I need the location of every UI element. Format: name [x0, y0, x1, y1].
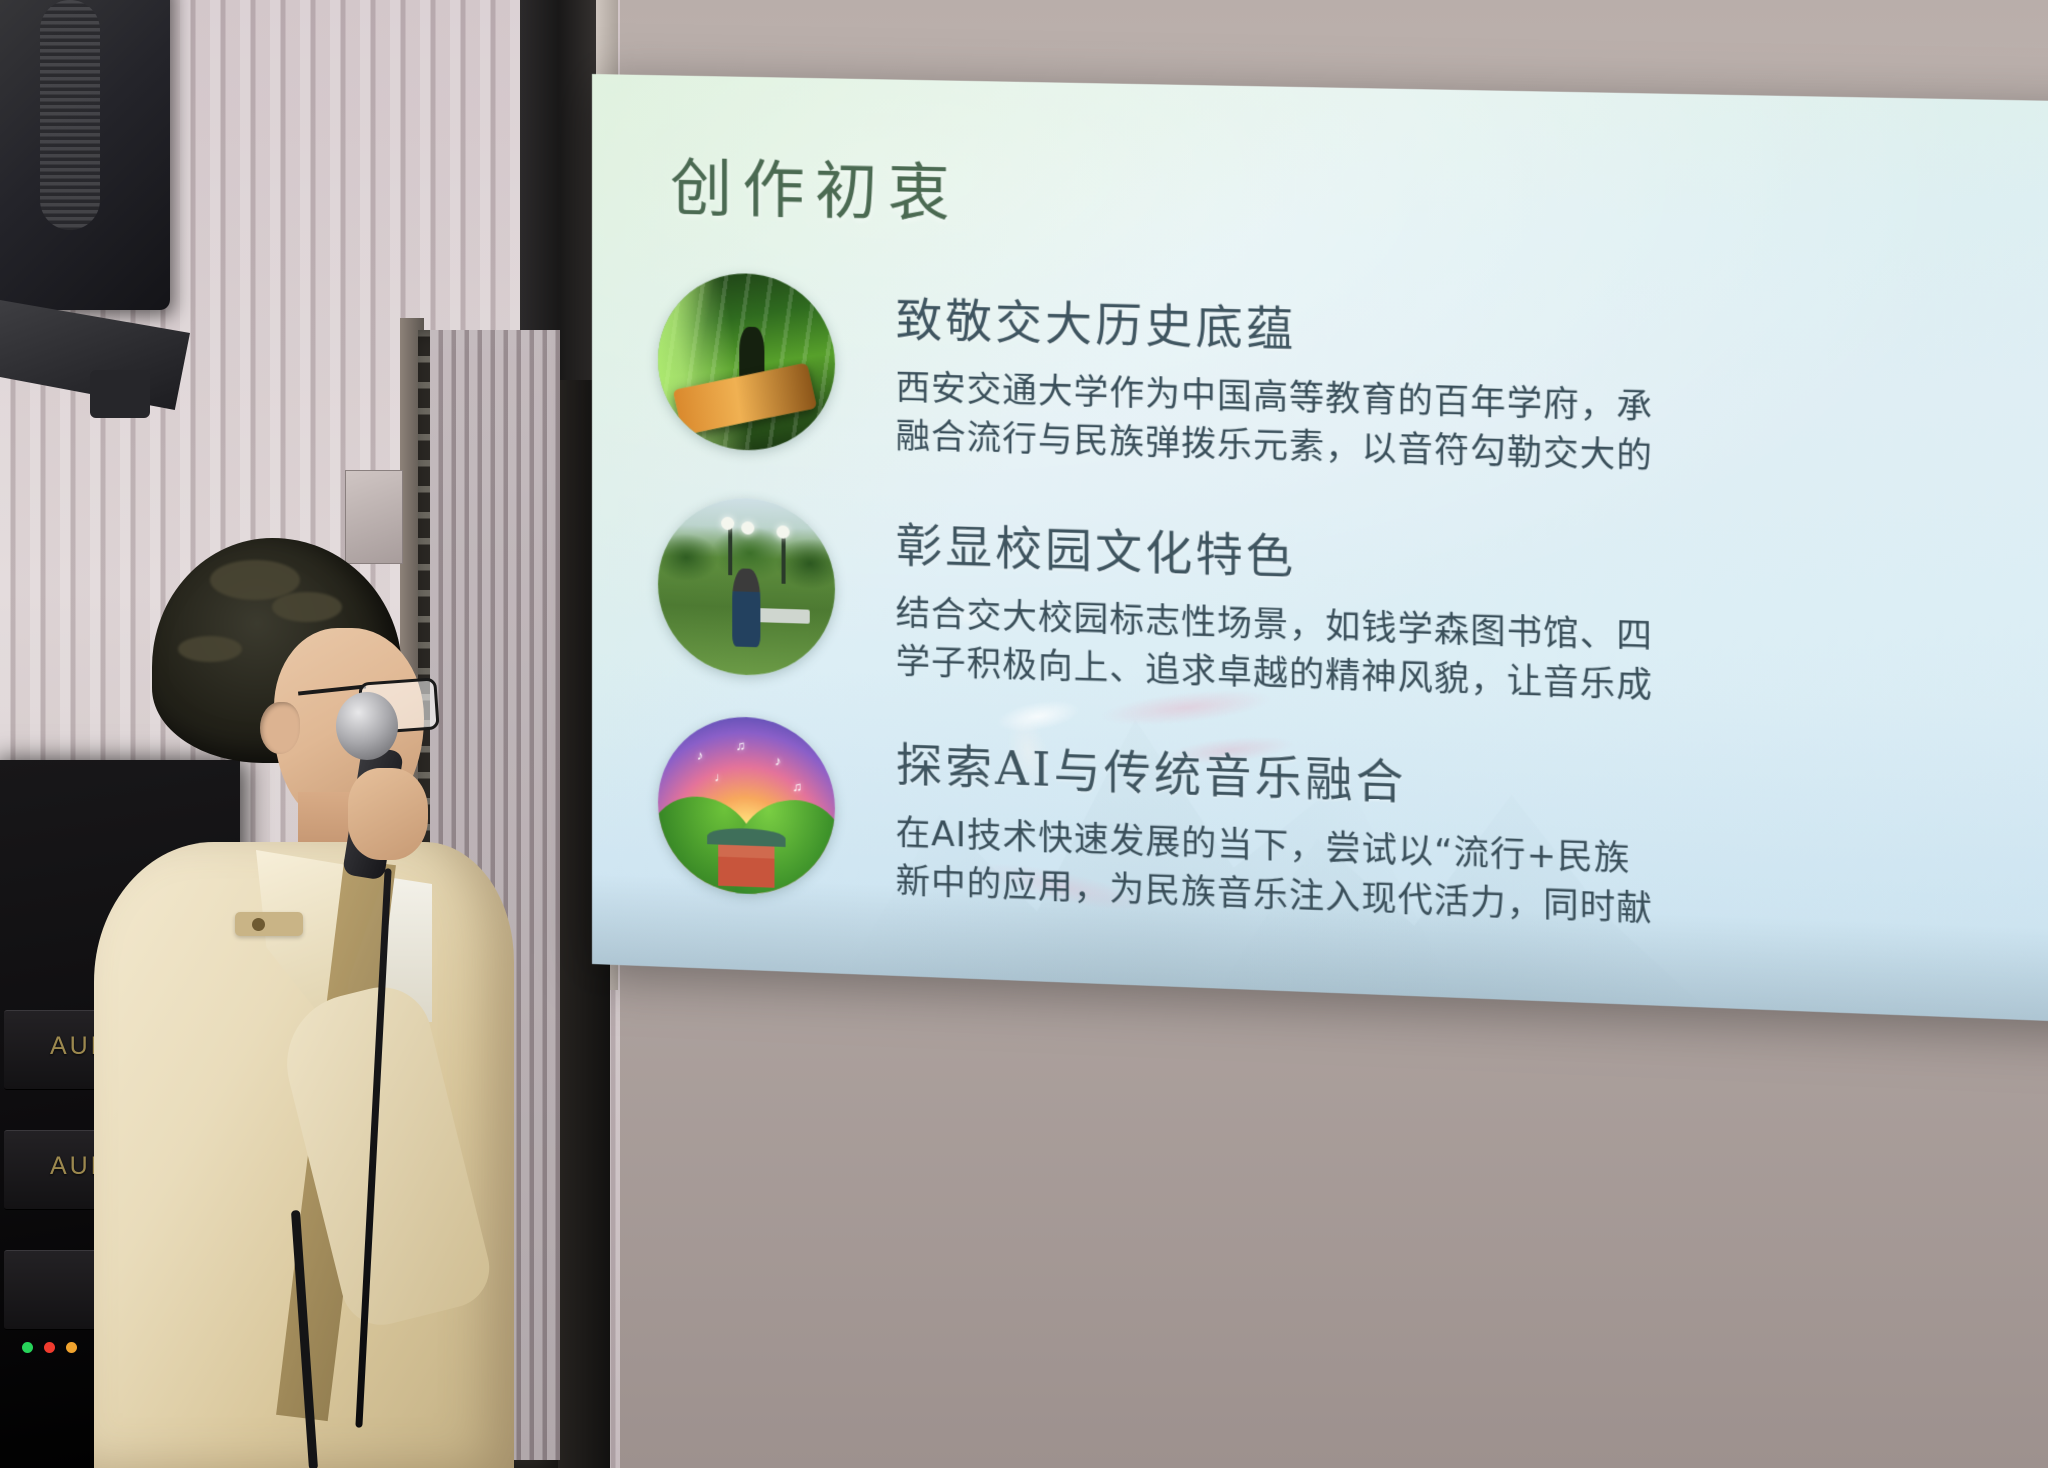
lamp-post-icon: [729, 523, 733, 575]
lamp-head-icon: [741, 521, 754, 534]
guzheng-forest-photo-thumbnail-icon: [658, 272, 835, 453]
campus-scene-photo-thumbnail-icon: [658, 496, 835, 678]
speaker-mount-bracket: [90, 370, 150, 418]
speaker-grill-icon: [40, 0, 100, 230]
presenter-hand: [348, 768, 428, 860]
music-note-icon: ♫: [736, 738, 746, 753]
slide-section-1-heading: 致敬交大历史底蕴: [896, 283, 2048, 380]
lamp-head-icon: [722, 517, 735, 530]
music-note-icon: ♪: [697, 747, 704, 762]
slide-section-1: 致敬交大历史底蕴 西安交通大学作为中国高等教育的百年学府，承 融合流行与民族弹拨…: [658, 272, 2048, 495]
slide-section-1-text: 致敬交大历史底蕴 西安交通大学作为中国高等教育的百年学府，承 融合流行与民族弹拨…: [896, 277, 2048, 494]
hair-highlight: [272, 592, 342, 622]
performer-silhouette-icon: [739, 326, 764, 387]
ai-sunrise-music-thumbnail-icon: ♪ ♫ ♪ ♩ ♫: [658, 714, 835, 897]
slide-title: 创作初衷: [670, 138, 961, 235]
slide-section-2: 彰显校园文化特色 结合交大校园标志性场景，如钱学森图书馆、四 学子积极向上、追求…: [658, 496, 2048, 726]
projection-screen: 创作初衷 致敬交大历史底蕴 西安交通大学作为中国高等教育的百年学府，承 融合流行…: [592, 74, 2048, 1023]
rack-led-green: [22, 1342, 33, 1353]
microphone-head-icon: [336, 692, 398, 760]
person-silhouette-icon: [732, 569, 760, 648]
presenter-ear: [260, 702, 300, 754]
lamp-head-icon: [776, 526, 789, 539]
music-note-icon: ♫: [792, 779, 802, 794]
photo-scene: AUDI AUDI 创作初衷 致敬交大历史底蕴 西安交通大学作为中国高等教: [0, 0, 2048, 1468]
pagoda-roof-icon: [707, 827, 785, 847]
music-note-icon: ♩: [714, 769, 727, 784]
slide-section-1-body: 西安交通大学作为中国高等教育的百年学府，承 融合流行与民族弹拨乐元素，以音符勾勒…: [896, 364, 2048, 495]
hair-highlight: [178, 636, 242, 662]
slide-section-2-body: 结合交大校园标志性场景，如钱学森图书馆、四 学子积极向上、追求卓越的精神风貌，让…: [896, 589, 2048, 726]
jacket-epaulette: [235, 912, 303, 936]
rack-led-red: [44, 1342, 55, 1353]
lamp-post-icon: [782, 531, 786, 583]
ceiling-speaker: [0, 0, 170, 310]
music-note-icon: ♪: [775, 753, 782, 768]
pagoda-icon: [718, 840, 775, 888]
slide-section-2-text: 彰显校园文化特色 结合交大校园标志性场景，如钱学森图书馆、四 学子积极向上、追求…: [896, 503, 2048, 727]
slide-content: 创作初衷 致敬交大历史底蕴 西安交通大学作为中国高等教育的百年学府，承 融合流行…: [592, 74, 2048, 1023]
jacket-button: [252, 918, 265, 931]
